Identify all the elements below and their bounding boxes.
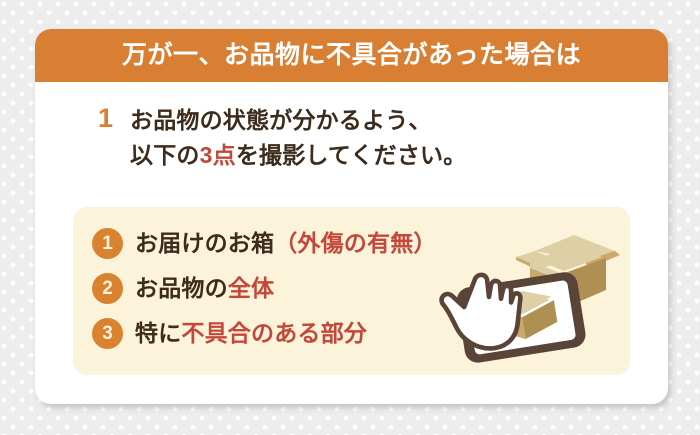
- step-line-2-suffix: を撮影してください。: [236, 142, 467, 168]
- step-line-1-text: お品物の状態が分かるよう、: [130, 107, 432, 133]
- list-item-accent: 不具合のある部分: [181, 320, 367, 346]
- list-item-plain: 特に: [135, 320, 181, 346]
- checklist-list: 1 お届けのお箱（外傷の有無） 2 お品物の全体 3 特に不具合のある部分: [92, 221, 437, 356]
- list-item: 1 お届けのお箱（外傷の有無）: [92, 221, 437, 266]
- list-item: 3 特に不具合のある部分: [92, 311, 437, 356]
- step-line-2-prefix: 以下の: [130, 142, 200, 168]
- card-header-bar: 万が一、お品物に不具合があった場合は: [35, 29, 668, 82]
- screenshot-canvas: 万が一、お品物に不具合があった場合は 1 お品物の状態が分かるよう、 以下の3点…: [0, 0, 700, 435]
- step-line-1: お品物の状態が分かるよう、: [130, 103, 466, 138]
- list-marker-1-icon: 1: [92, 228, 123, 259]
- list-marker-3-icon: 3: [92, 318, 123, 349]
- list-item-text: 特に不具合のある部分: [135, 322, 367, 345]
- list-item-plain: お品物の: [135, 275, 228, 301]
- list-item-plain: お届けのお箱: [135, 230, 274, 256]
- pointing-hand-cursor-icon: [442, 275, 521, 349]
- checklist-panel: 1 お届けのお箱（外傷の有無） 2 お品物の全体 3 特に不具合のある部分: [73, 207, 630, 375]
- step-line-2-accent: 3点: [200, 142, 236, 168]
- info-card: 万が一、お品物に不具合があった場合は 1 お品物の状態が分かるよう、 以下の3点…: [35, 29, 668, 404]
- step-block: 1 お品物の状態が分かるよう、 以下の3点を撮影してください。: [35, 82, 668, 173]
- step-instruction-text: お品物の状態が分かるよう、 以下の3点を撮影してください。: [130, 103, 466, 173]
- list-item-text: お届けのお箱（外傷の有無）: [135, 232, 437, 255]
- card-header-title: 万が一、お品物に不具合があった場合は: [122, 43, 581, 68]
- list-marker-2-icon: 2: [92, 273, 123, 304]
- step-number: 1: [98, 103, 130, 173]
- list-item-text: お品物の全体: [135, 277, 274, 300]
- list-item-accent: （外傷の有無）: [274, 230, 436, 256]
- illustration-smartphone-photographing-box: [434, 221, 624, 371]
- list-item: 2 お品物の全体: [92, 266, 437, 311]
- list-item-accent: 全体: [228, 275, 274, 301]
- step-line-2: 以下の3点を撮影してください。: [130, 138, 466, 173]
